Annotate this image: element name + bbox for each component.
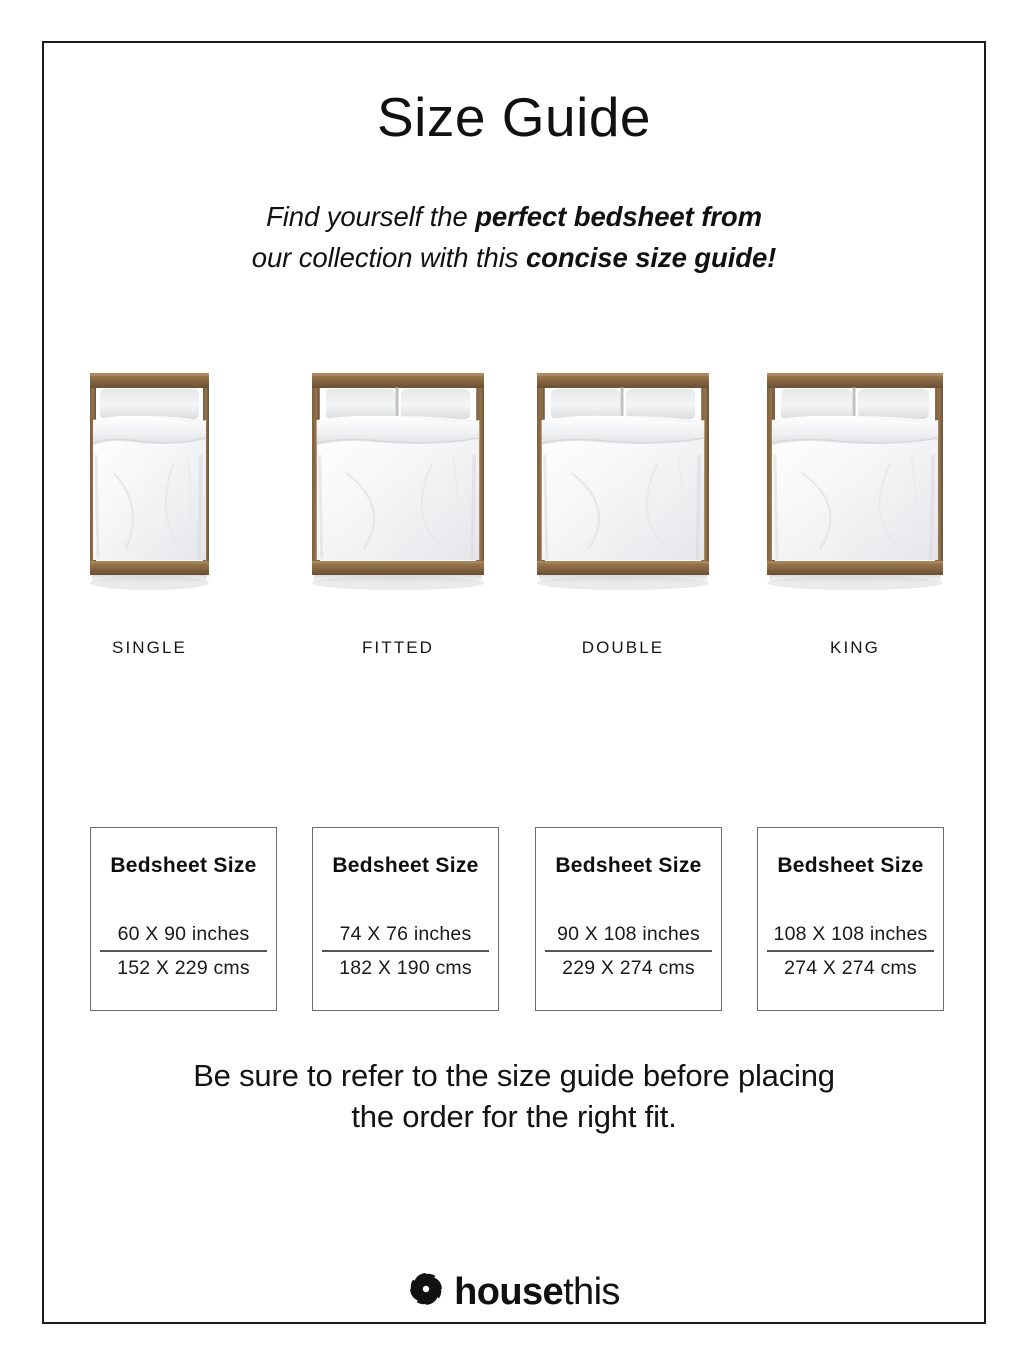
size-box-values: 108 X 108 inches274 X 274 cms: [767, 920, 934, 982]
size-guide-page: Size Guide Find yourself the perfect bed…: [0, 0, 1024, 1365]
subtitle-line-1-normal: Find yourself the: [266, 201, 475, 232]
bed-illustration-fitted: FITTED: [312, 373, 484, 663]
bed-label-king: KING: [767, 638, 943, 658]
size-value-cms: 229 X 274 cms: [545, 954, 712, 982]
bed-graphic: [537, 373, 709, 615]
size-box-fitted: Bedsheet Size74 X 76 inches182 X 190 cms: [312, 827, 499, 1011]
size-value-divider: [322, 950, 489, 952]
size-box-values: 60 X 90 inches152 X 229 cms: [100, 920, 267, 982]
footer-note: Be sure to refer to the size guide befor…: [44, 1055, 984, 1137]
size-box-heading: Bedsheet Size: [313, 854, 498, 878]
page-frame: Size Guide Find yourself the perfect bed…: [42, 41, 986, 1324]
size-value-cms: 152 X 229 cms: [100, 954, 267, 982]
bed-illustration-single: SINGLE: [90, 373, 209, 663]
size-value-divider: [545, 950, 712, 952]
subtitle-line-2: our collection with this concise size gu…: [44, 238, 984, 279]
subtitle-line-1: Find yourself the perfect bedsheet from: [44, 197, 984, 238]
size-box-single: Bedsheet Size60 X 90 inches152 X 229 cms: [90, 827, 277, 1011]
size-value-divider: [767, 950, 934, 952]
size-value-inches: 108 X 108 inches: [767, 920, 934, 948]
size-value-inches: 74 X 76 inches: [322, 920, 489, 948]
bed-illustrations: SINGLE: [44, 373, 984, 663]
footer-note-line-1: Be sure to refer to the size guide befor…: [44, 1055, 984, 1096]
subtitle-line-1-bold: perfect bedsheet from: [475, 201, 762, 232]
size-box-double: Bedsheet Size90 X 108 inches229 X 274 cm…: [535, 827, 722, 1011]
bed-illustration-king: KING: [767, 373, 943, 663]
bed-label-single: SINGLE: [90, 638, 209, 658]
page-title: Size Guide: [44, 90, 984, 145]
size-value-cms: 274 X 274 cms: [767, 954, 934, 982]
size-value-cms: 182 X 190 cms: [322, 954, 489, 982]
brand-name-bold: house: [454, 1273, 563, 1311]
size-value-inches: 90 X 108 inches: [545, 920, 712, 948]
size-box-heading: Bedsheet Size: [536, 854, 721, 878]
pinwheel-icon: [408, 1271, 444, 1312]
size-box-heading: Bedsheet Size: [91, 854, 276, 878]
brand-logo: housethis: [44, 1271, 984, 1312]
footer-note-line-2: the order for the right fit.: [44, 1096, 984, 1137]
size-box-values: 74 X 76 inches182 X 190 cms: [322, 920, 489, 982]
page-subtitle: Find yourself the perfect bedsheet from …: [44, 197, 984, 278]
size-box-heading: Bedsheet Size: [758, 854, 943, 878]
size-value-divider: [100, 950, 267, 952]
bed-graphic: [90, 373, 209, 615]
size-value-inches: 60 X 90 inches: [100, 920, 267, 948]
bed-graphic: [312, 373, 484, 615]
size-box-values: 90 X 108 inches229 X 274 cms: [545, 920, 712, 982]
subtitle-line-2-bold: concise size guide!: [526, 242, 776, 273]
bed-label-double: DOUBLE: [537, 638, 709, 658]
bed-label-fitted: FITTED: [312, 638, 484, 658]
subtitle-line-2-normal: our collection with this: [252, 242, 526, 273]
brand-name-light: this: [563, 1273, 620, 1311]
bed-graphic: [767, 373, 943, 615]
bed-illustration-double: DOUBLE: [537, 373, 709, 663]
bedsheet-size-boxes: Bedsheet Size60 X 90 inches152 X 229 cms…: [44, 827, 984, 1011]
brand-wordmark: housethis: [454, 1273, 620, 1311]
size-box-king: Bedsheet Size108 X 108 inches274 X 274 c…: [757, 827, 944, 1011]
